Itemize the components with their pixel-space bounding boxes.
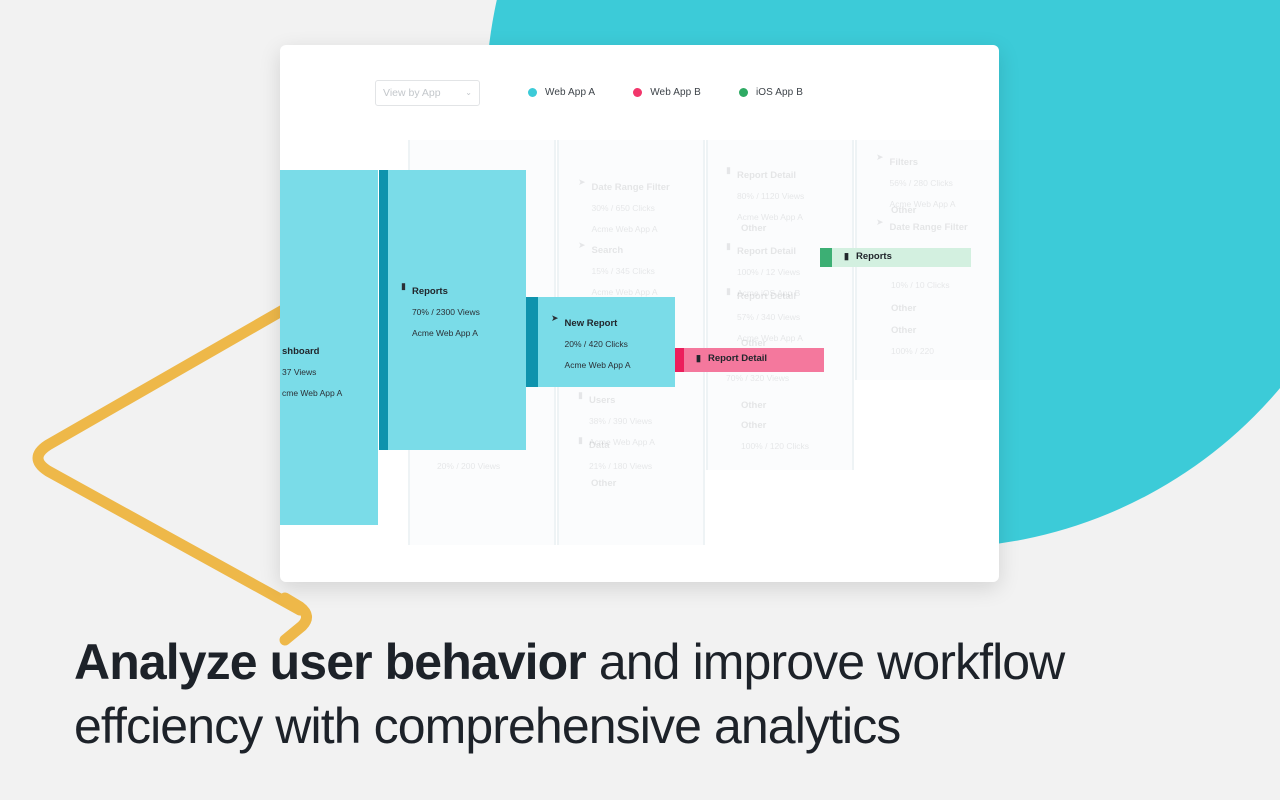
flow-connector-new-report (526, 297, 538, 387)
flow-connector-reports-green (820, 248, 832, 267)
node-title: Report Detail (737, 291, 796, 302)
node-app: Acme Web App A (592, 224, 658, 234)
node-stat: 37 Views (282, 367, 316, 377)
node-stat: 15% / 345 Clicks (592, 266, 655, 276)
ghost-node: Other 100% / 120 Clicks (735, 410, 809, 458)
node-stat: 70% / 320 Views (726, 373, 789, 383)
node-title: Data (589, 440, 610, 451)
node-title: Other (891, 303, 916, 314)
page-icon: ▮ (726, 166, 731, 175)
node-app: Acme Web App A (565, 360, 631, 370)
app-window: View by App ⌄ Web App A Web App B iOS Ap… (280, 45, 999, 582)
node-stat: 80% / 1120 Views (737, 191, 804, 201)
node-stat: 20% / 420 Clicks (565, 339, 628, 349)
flow-node-reports-green[interactable]: ▮ Reports (844, 251, 892, 262)
ghost-node: ➤ Search 15% / 345 Clicks Acme Web App A (572, 235, 658, 304)
node-title: Reports (412, 286, 448, 297)
node-title: New Report (565, 318, 618, 329)
page-headline: Analyze user behavior and improve workfl… (74, 630, 1264, 758)
node-title: Filters (890, 157, 919, 168)
node-title: Report Detail (737, 246, 796, 257)
node-title: Users (589, 395, 615, 406)
node-app: Acme Web App A (592, 287, 658, 297)
node-title: Other (591, 478, 616, 489)
node-title: shboard (282, 346, 319, 357)
page-icon: ▮ (401, 282, 406, 291)
cursor-icon: ➤ (578, 241, 586, 250)
node-stat: 100% / 120 Clicks (741, 441, 809, 451)
node-stat: 100% / 220 (891, 346, 934, 356)
cursor-icon: ➤ (876, 218, 884, 227)
headline-bold: Analyze user behavior (74, 634, 586, 690)
ghost-node: ➤ Date Range Filter (870, 212, 968, 239)
node-title: Report Detail (708, 353, 767, 364)
node-stat: 10% / 10 Clicks (891, 280, 950, 290)
node-stat: 20% / 200 Views (437, 461, 500, 471)
cursor-icon: ➤ (551, 314, 559, 323)
flow-node-dashboard[interactable]: shboard 37 Views cme Web App A (280, 336, 342, 405)
node-app: Acme Web App A (412, 328, 478, 338)
node-title: Other (741, 420, 766, 431)
node-stat: 56% / 280 Clicks (890, 178, 953, 188)
node-stat: 100% / 12 Views (737, 267, 800, 277)
ghost-node: Other 100% / 220 (885, 315, 934, 363)
flow-node-reports[interactable]: ▮ Reports 70% / 2300 Views Acme Web App … (395, 276, 480, 345)
flow-connector-dashboard-reports (379, 170, 388, 450)
node-stat: 70% / 2300 Views (412, 307, 480, 317)
node-title: Search (592, 245, 624, 256)
node-app: cme Web App A (282, 388, 342, 398)
ghost-node: Other (585, 468, 616, 495)
cursor-icon: ➤ (578, 178, 586, 187)
cursor-icon: ➤ (876, 153, 884, 162)
flow-canvas: ➤ Date Range Filter 30% / 650 Clicks Acm… (280, 45, 999, 582)
ghost-node: ➤ Date Range Filter 30% / 650 Clicks Acm… (572, 172, 670, 241)
node-title: Date Range Filter (890, 222, 968, 233)
node-stat: 30% / 650 Clicks (592, 203, 655, 213)
node-title: Other (741, 223, 766, 234)
flow-connector-report-detail (675, 348, 684, 372)
flow-node-new-report[interactable]: ➤ New Report 20% / 420 Clicks Acme Web A… (545, 308, 631, 377)
page-icon: ▮ (844, 251, 849, 262)
node-title: Report Detail (737, 170, 796, 181)
flow-node-report-detail[interactable]: ▮ Report Detail (696, 353, 767, 364)
page-icon: ▮ (578, 391, 583, 400)
node-stat: 38% / 390 Views (589, 416, 652, 426)
node-title: Reports (856, 251, 892, 262)
node-title: Other (891, 325, 916, 336)
page-icon: ▮ (726, 287, 731, 296)
page-icon: ▮ (726, 242, 731, 251)
page-icon: ▮ (578, 436, 583, 445)
node-stat: 57% / 340 Views (737, 312, 800, 322)
page-icon: ▮ (696, 353, 701, 364)
node-title: Date Range Filter (592, 182, 670, 193)
